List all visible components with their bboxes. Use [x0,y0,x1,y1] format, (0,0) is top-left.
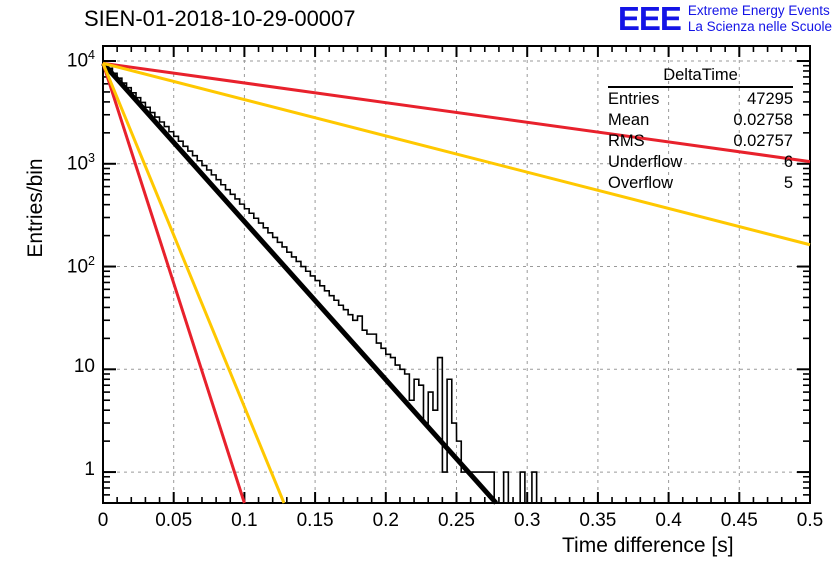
stats-value: 0.02757 [733,131,793,152]
x-tick-label: 0.3 [487,510,567,532]
x-tick-label: 0.1 [204,510,284,532]
fit-curve-fit-yellow [103,63,284,503]
stats-row: Overflow5 [608,173,793,194]
stats-box: DeltaTime Entries47295Mean0.02758RMS0.02… [608,66,793,194]
stats-value: 47295 [747,89,793,110]
stats-row: RMS0.02757 [608,131,793,152]
fit-curve-fit-black [103,63,496,503]
stats-key: Underflow [608,152,682,173]
x-tick-label: 0.2 [346,510,426,532]
x-tick-label: 0.4 [629,510,709,532]
stats-key: Overflow [608,173,673,194]
y-tick-label: 102 [11,254,95,278]
y-tick-label: 1 [11,459,95,481]
stats-row: Mean0.02758 [608,110,793,131]
stats-row: Underflow6 [608,152,793,173]
x-tick-label: 0.25 [417,510,497,532]
stats-key: Entries [608,89,659,110]
stats-value: 6 [784,152,793,173]
stats-value: 5 [784,173,793,194]
stats-key: Mean [608,110,649,131]
stats-row: Entries47295 [608,89,793,110]
y-tick-label: 10 [11,356,95,378]
stats-title: DeltaTime [608,66,793,88]
root-canvas: SIEN-01-2018-10-29-00007 EEE Extreme Ene… [0,0,836,572]
x-tick-label: 0.5 [770,510,836,532]
x-tick-label: 0.05 [134,510,214,532]
y-tick-label: 104 [11,48,95,72]
y-tick-label: 103 [11,151,95,175]
fit-curve-fit-red [103,63,244,503]
x-tick-label: 0.15 [275,510,355,532]
stats-rows: Entries47295Mean0.02758RMS0.02757Underfl… [608,89,793,194]
x-tick-label: 0.35 [558,510,638,532]
x-tick-label: 0.45 [699,510,779,532]
stats-value: 0.02758 [733,110,793,131]
histogram-outline [103,64,537,503]
stats-key: RMS [608,131,645,152]
x-tick-label: 0 [63,510,143,532]
